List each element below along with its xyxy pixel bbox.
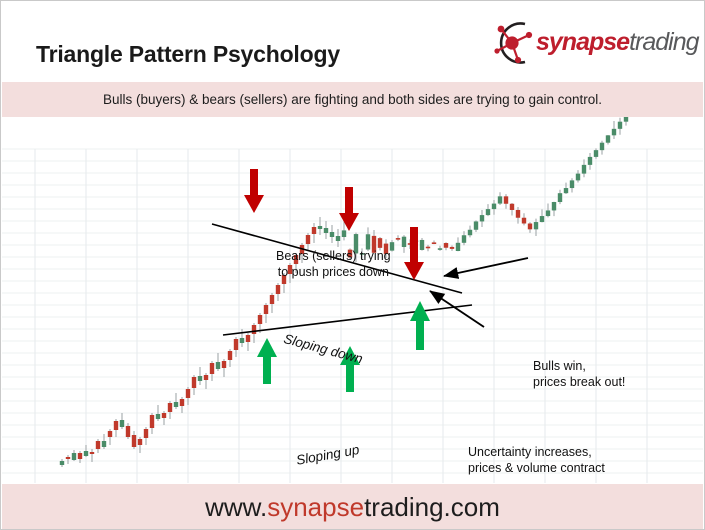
candle-body: [228, 351, 232, 360]
candlestick-chart: Bears (sellers) trying to push prices do…: [2, 117, 703, 483]
candle-body: [96, 441, 100, 449]
candle-body: [234, 339, 238, 350]
candle-body: [330, 232, 334, 237]
candle-body: [270, 295, 274, 304]
candle-body: [558, 193, 562, 202]
annotation-bears: Bears (sellers) trying to push prices do…: [276, 249, 391, 280]
annotation-uncertainty: Uncertainty increases, prices & volume c…: [468, 445, 605, 476]
candle-body: [168, 403, 172, 412]
candle-body: [456, 243, 460, 251]
candle-body: [570, 180, 574, 188]
candle-body: [582, 165, 586, 174]
logo-word-trading: trading: [629, 28, 698, 56]
candle-body: [324, 228, 328, 233]
candle-body: [108, 431, 112, 437]
candle-body: [468, 230, 472, 235]
candle-body: [192, 377, 196, 388]
candle-body: [198, 376, 202, 381]
candle-body: [438, 248, 442, 250]
candle-body: [486, 209, 490, 215]
candle-body: [462, 235, 466, 243]
candle-body: [210, 363, 214, 374]
footer-url: www.synapsetrading.com: [205, 492, 500, 523]
candle-body: [546, 210, 550, 216]
candle-body: [420, 240, 424, 250]
footer-url-suffix: trading.com: [364, 492, 500, 522]
callout-arrow-breakout: [444, 258, 528, 276]
candle-body: [624, 117, 628, 122]
candle-body: [240, 338, 244, 343]
footer-url-brand: synapse: [267, 492, 364, 522]
candle-body: [336, 236, 340, 241]
candle-body: [276, 285, 280, 294]
candle-body: [78, 453, 82, 459]
logo-wordmark: synapsetrading: [536, 28, 699, 57]
candle-body: [540, 216, 544, 222]
synapsetrading-logo: synapsetrading: [488, 17, 684, 69]
candle-body: [510, 204, 514, 210]
candle-body: [342, 230, 346, 237]
candle-body: [216, 362, 220, 369]
candle-body: [60, 461, 64, 465]
candle-body: [432, 242, 436, 244]
candle-body: [120, 420, 124, 427]
candle-body: [402, 237, 406, 247]
slide-root: Triangle Pattern Psychology synapsetradi…: [0, 0, 705, 530]
bull-arrow-3: [410, 301, 430, 350]
annotation-breakout: Bulls win, prices break out!: [533, 359, 625, 390]
candle-body: [84, 451, 88, 456]
subtitle-band: Bulls (buyers) & bears (sellers) are fig…: [2, 82, 703, 117]
subtitle-text: Bulls (buyers) & bears (sellers) are fig…: [103, 92, 602, 107]
candle-body: [138, 439, 142, 445]
candle-body: [102, 441, 106, 447]
candlestick-series: [60, 117, 676, 467]
candle-body: [72, 453, 76, 460]
candle-body: [576, 174, 580, 181]
candle-body: [156, 414, 160, 419]
candle-body: [204, 375, 208, 380]
candle-body: [444, 243, 448, 248]
candle-body: [126, 426, 130, 437]
candle-body: [66, 457, 70, 459]
bear-arrow-3: [404, 227, 424, 280]
annotation-breakout-line1: Bulls win,: [533, 359, 625, 375]
chart-canvas: [2, 117, 703, 483]
footer-url-prefix: www.: [205, 492, 267, 522]
candle-body: [366, 234, 370, 249]
candle-body: [162, 413, 166, 418]
candle-body: [426, 247, 430, 249]
annotation-bears-line2: to push prices down: [276, 265, 391, 281]
candle-body: [522, 218, 526, 224]
annotation-breakout-line2: prices break out!: [533, 375, 625, 391]
candle-body: [144, 429, 148, 438]
candle-body: [504, 196, 508, 203]
candle-body: [480, 215, 484, 221]
candle-body: [594, 150, 598, 157]
candle-body: [312, 227, 316, 234]
page-title: Triangle Pattern Psychology: [36, 41, 340, 68]
candle-body: [450, 247, 454, 249]
candle-body: [534, 222, 538, 229]
slide-header: Triangle Pattern Psychology synapsetradi…: [1, 1, 704, 82]
candle-body: [174, 402, 178, 407]
candle-body: [612, 129, 616, 135]
candle-body: [600, 143, 604, 150]
candle-body: [306, 235, 310, 244]
candle-body: [186, 389, 190, 398]
candle-body: [528, 223, 532, 229]
candle-body: [606, 135, 610, 142]
logo-word-synapse: synapse: [536, 28, 629, 56]
annotation-uncertainty-line2: prices & volume contract: [468, 461, 605, 477]
candle-body: [246, 335, 250, 342]
footer-band: www.synapsetrading.com: [2, 484, 703, 530]
candle-body: [474, 221, 478, 229]
candle-body: [396, 238, 400, 240]
candle-body: [222, 361, 226, 368]
candle-body: [258, 315, 262, 324]
candle-body: [564, 188, 568, 193]
candle-body: [150, 415, 154, 428]
annotation-bears-line1: Bears (sellers) trying: [276, 249, 391, 265]
candle-body: [132, 435, 136, 447]
candle-body: [516, 210, 520, 218]
candle-body: [180, 399, 184, 406]
candle-body: [498, 196, 502, 203]
candle-body: [90, 452, 94, 454]
bear-arrow-1: [244, 169, 264, 213]
candle-body: [264, 305, 268, 314]
candle-body: [252, 325, 256, 334]
candle-body: [552, 202, 556, 210]
candle-body: [588, 157, 592, 165]
candle-body: [318, 226, 322, 229]
candle-body: [492, 204, 496, 210]
annotation-uncertainty-line1: Uncertainty increases,: [468, 445, 605, 461]
candle-body: [618, 122, 622, 129]
candle-body: [114, 421, 118, 430]
candle-body: [378, 238, 382, 248]
